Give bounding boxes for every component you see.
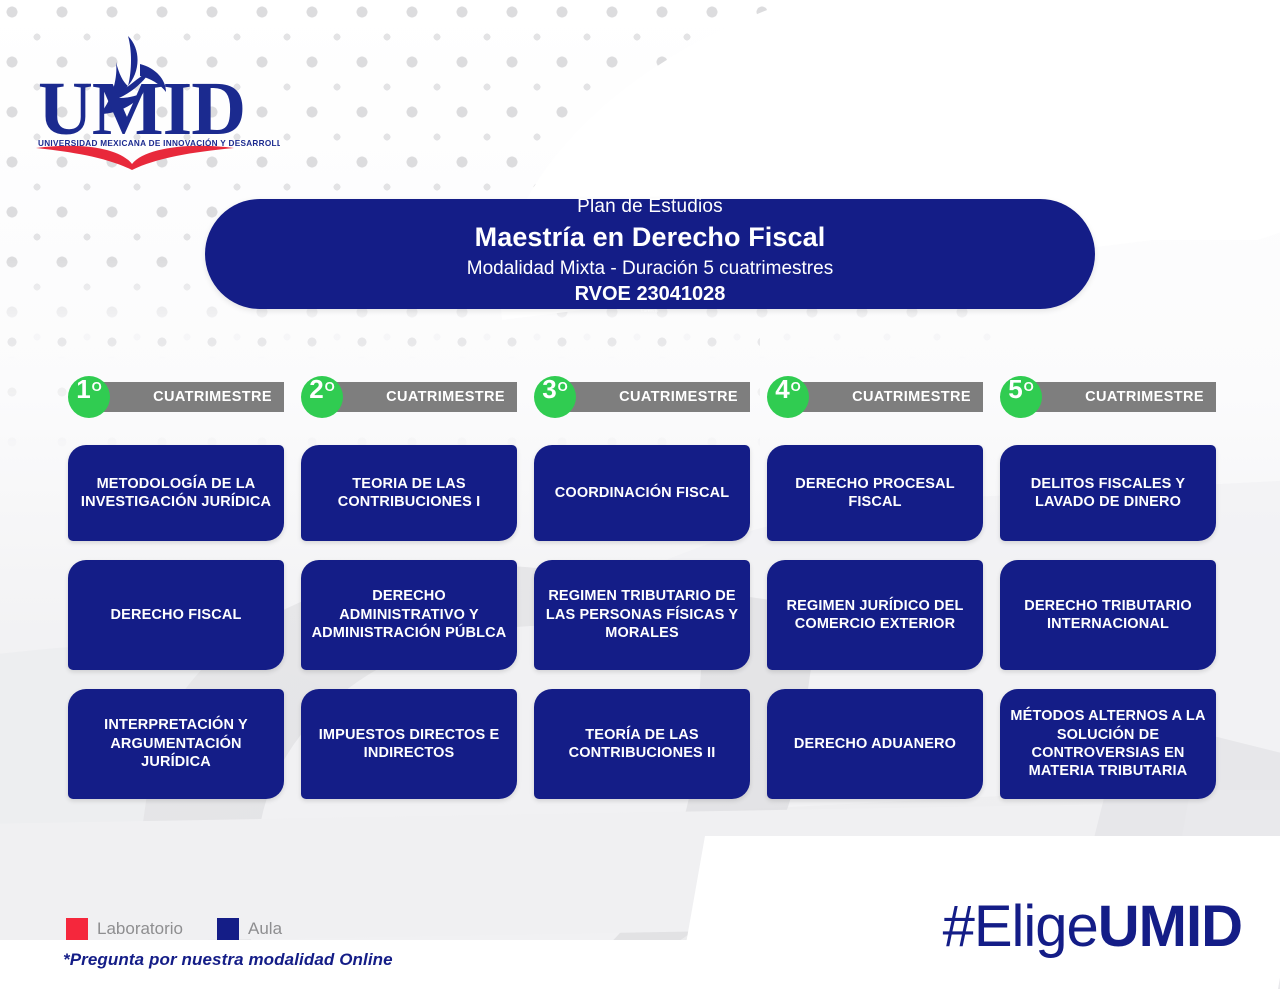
term-number-4: 4 (775, 376, 789, 402)
legend-swatch-navy-icon (217, 918, 239, 940)
term-number-badge-3: 3 O (534, 376, 576, 418)
term-ordinal-2: O (325, 380, 335, 393)
course-card[interactable]: REGIMEN TRIBUTARIO DE LAS PERSONAS FÍSIC… (534, 560, 750, 670)
curriculum-grid: CUATRIMESTRE 1 O METODOLOGÍA DE LA INVES… (68, 376, 1218, 818)
term-label-3: CUATRIMESTRE (619, 389, 738, 405)
banner-program-title: Maestría en Derecho Fiscal (475, 220, 826, 255)
legend-item-laboratorio: Laboratorio (66, 918, 183, 940)
banner-microtext: Lorem ip (641, 308, 658, 313)
hashtag-eligeumid: #EligeUMID (943, 893, 1242, 960)
term-header-4: CUATRIMESTRE 4 O (767, 376, 983, 418)
course-card[interactable]: DERECHO PROCESAL FISCAL (767, 445, 983, 541)
course-card[interactable]: TEORÍA DE LAS CONTRIBUCIONES II (534, 689, 750, 799)
course-card[interactable]: DELITOS FISCALES Y LAVADO DE DINERO (1000, 445, 1216, 541)
course-card[interactable]: IMPUESTOS DIRECTOS E INDIRECTOS (301, 689, 517, 799)
term-ordinal-3: O (558, 380, 568, 393)
term-column-3: CUATRIMESTRE 3 O COORDINACIÓN FISCAL REG… (534, 376, 750, 818)
course-card[interactable]: REGIMEN JURÍDICO DEL COMERCIO EXTERIOR (767, 560, 983, 670)
term-label-5: CUATRIMESTRE (1085, 389, 1204, 405)
course-card[interactable]: DERECHO ADUANERO (767, 689, 983, 799)
course-card[interactable]: COORDINACIÓN FISCAL (534, 445, 750, 541)
term-column-5: CUATRIMESTRE 5 O DELITOS FISCALES Y LAVA… (1000, 376, 1216, 818)
term-number-badge-5: 5 O (1000, 376, 1042, 418)
term-header-2: CUATRIMESTRE 2 O (301, 376, 517, 418)
course-card[interactable]: DERECHO TRIBUTARIO INTERNACIONAL (1000, 560, 1216, 670)
course-card[interactable]: INTERPRETACIÓN Y ARGUMENTACIÓN JURÍDICA (68, 689, 284, 799)
term-header-3: CUATRIMESTRE 3 O (534, 376, 750, 418)
term-ordinal-4: O (791, 380, 801, 393)
banner-rvoe: RVOE 23041028 (575, 282, 726, 307)
term-column-2: CUATRIMESTRE 2 O TEORIA DE LAS CONTRIBUC… (301, 376, 517, 818)
hashtag-prefix: #Elige (943, 894, 1098, 959)
term-label-bar-5: CUATRIMESTRE (1018, 382, 1216, 412)
term-ordinal-1: O (92, 380, 102, 393)
course-card[interactable]: DERECHO ADMINISTRATIVO Y ADMINISTRACIÓN … (301, 560, 517, 670)
term-label-bar-3: CUATRIMESTRE (552, 382, 750, 412)
legend-item-aula: Aula (217, 918, 282, 940)
course-card[interactable]: TEORIA DE LAS CONTRIBUCIONES I (301, 445, 517, 541)
plan-title-banner: Plan de Estudios Maestría en Derecho Fis… (205, 199, 1095, 309)
legend-swatch-red-icon (66, 918, 88, 940)
term-label-2: CUATRIMESTRE (386, 389, 505, 405)
online-modality-note: *Pregunta por nuestra modalidad Online (63, 950, 393, 970)
term-label-bar-2: CUATRIMESTRE (319, 382, 517, 412)
course-card[interactable]: MÉTODOS ALTERNOS A LA SOLUCIÓN DE CONTRO… (1000, 689, 1216, 799)
hashtag-suffix: UMID (1098, 894, 1242, 959)
term-header-1: CUATRIMESTRE 1 O (68, 376, 284, 418)
legend: Laboratorio Aula (66, 918, 282, 940)
term-number-5: 5 (1008, 376, 1022, 402)
term-number-badge-2: 2 O (301, 376, 343, 418)
term-label-4: CUATRIMESTRE (852, 389, 971, 405)
banner-eyebrow: Plan de Estudios (577, 195, 723, 219)
banner-modality: Modalidad Mixta - Duración 5 cuatrimestr… (467, 257, 833, 282)
term-number-2: 2 (309, 376, 323, 402)
term-label-bar-4: CUATRIMESTRE (785, 382, 983, 412)
term-column-1: CUATRIMESTRE 1 O METODOLOGÍA DE LA INVES… (68, 376, 284, 818)
course-card[interactable]: DERECHO FISCAL (68, 560, 284, 670)
term-label-1: CUATRIMESTRE (153, 389, 272, 405)
term-number-3: 3 (542, 376, 556, 402)
logo-subtitle-text: UNIVERSIDAD MEXICANA DE INNOVACIÓN Y DES… (38, 137, 280, 148)
term-number-1: 1 (76, 376, 90, 402)
umid-logo: UMID UNIVERSIDAD MEXICANA DE INNOVACIÓN … (20, 30, 280, 170)
term-header-5: CUATRIMESTRE 5 O (1000, 376, 1216, 418)
term-number-badge-4: 4 O (767, 376, 809, 418)
term-column-4: CUATRIMESTRE 4 O DERECHO PROCESAL FISCAL… (767, 376, 983, 818)
term-label-bar-1: CUATRIMESTRE (86, 382, 284, 412)
term-ordinal-5: O (1024, 380, 1034, 393)
course-card[interactable]: METODOLOGÍA DE LA INVESTIGACIÓN JURÍDICA (68, 445, 284, 541)
legend-label-laboratorio: Laboratorio (97, 919, 183, 939)
term-number-badge-1: 1 O (68, 376, 110, 418)
legend-label-aula: Aula (248, 919, 282, 939)
